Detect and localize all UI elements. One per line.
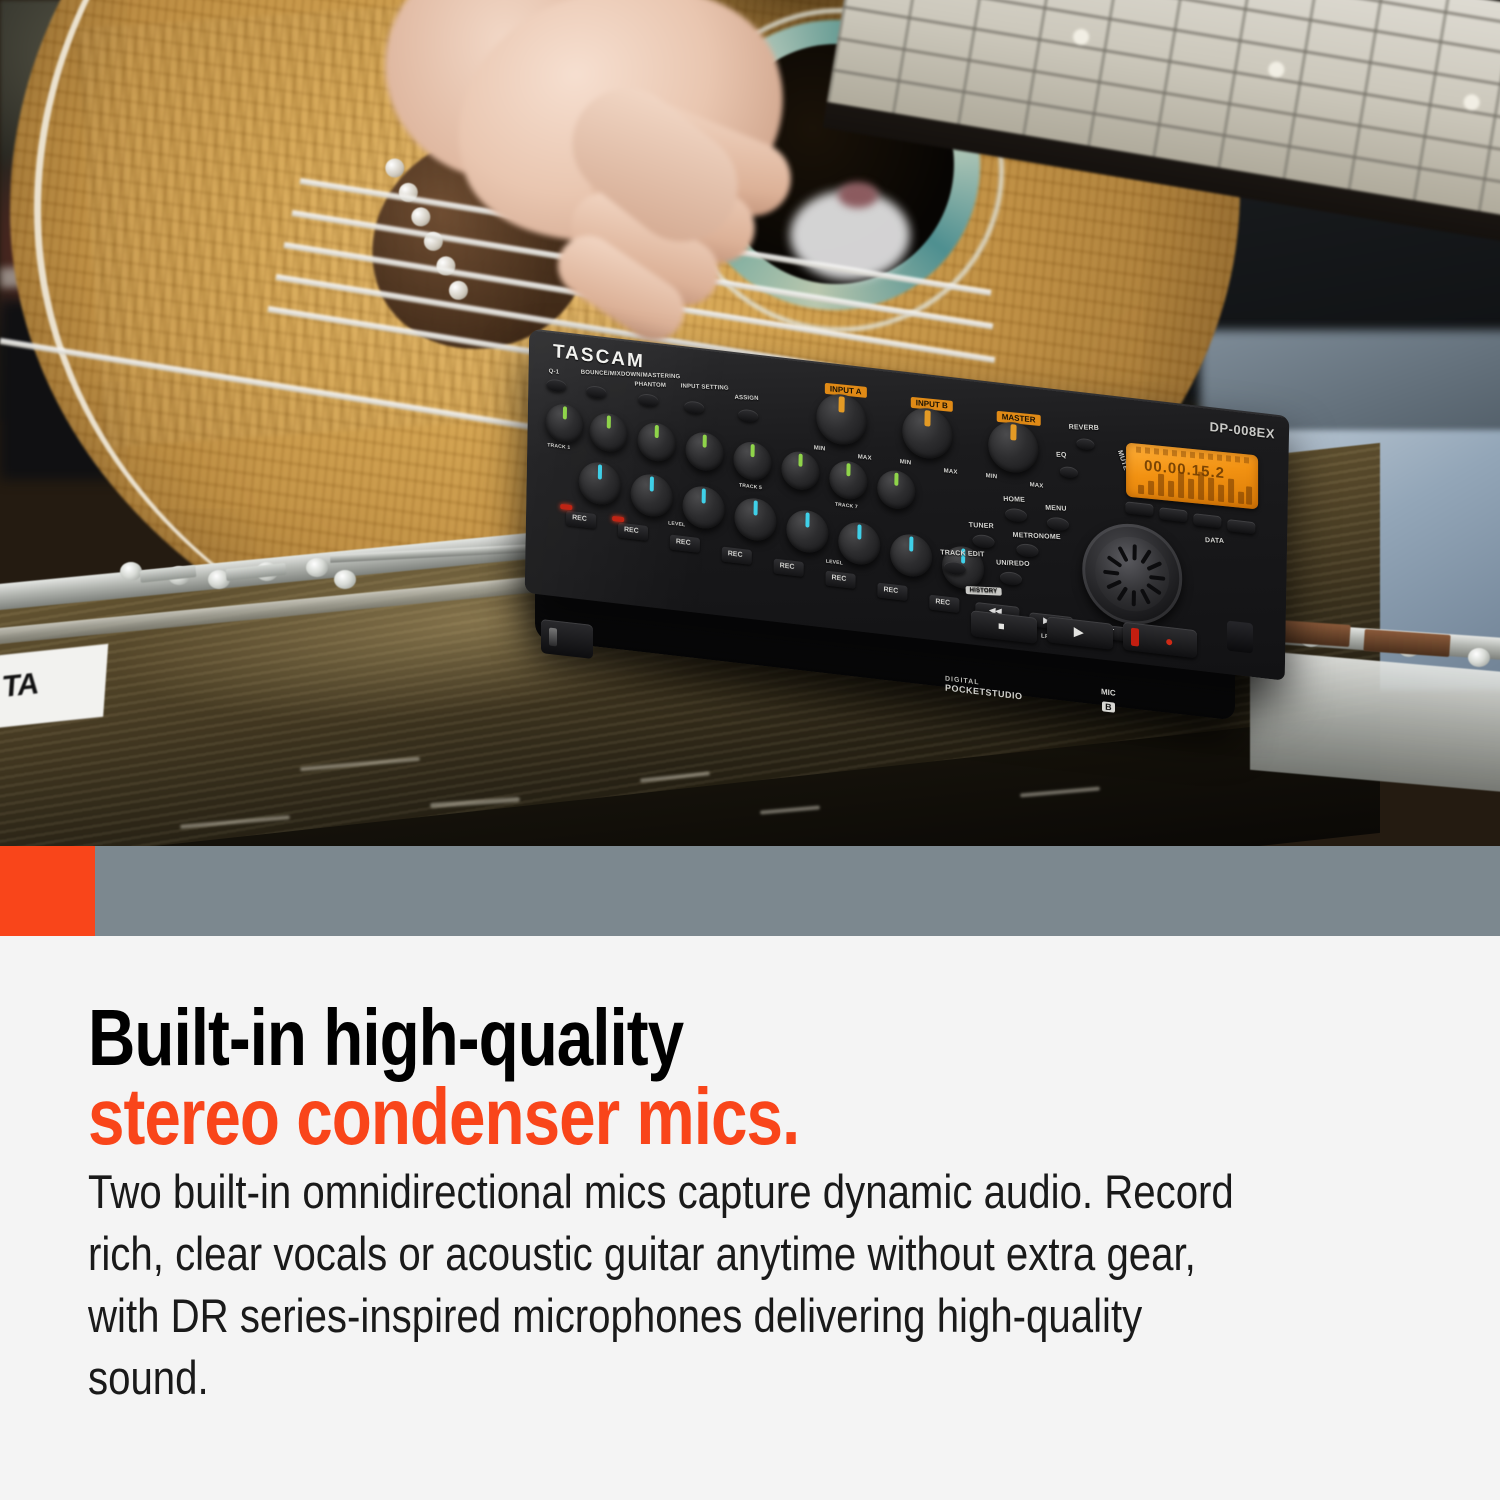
rec-button-6[interactable]: REC — [825, 571, 855, 589]
model-name: DP-008EX — [1209, 419, 1275, 442]
rec-label-6: REC — [832, 574, 847, 583]
rec-label-4: REC — [728, 550, 743, 559]
rec-indicator-1 — [560, 504, 572, 510]
level-label-text-2: LEVEL — [826, 559, 843, 567]
pan-knob-6[interactable] — [781, 450, 820, 492]
undo-redo-button[interactable] — [1000, 571, 1022, 587]
pan-knob-8[interactable] — [877, 469, 916, 511]
input-b-min: MIN — [900, 459, 912, 466]
undo-redo-label: UN/REDO — [996, 559, 1030, 568]
accent-band-row — [0, 846, 1500, 936]
rec-button-3[interactable]: REC — [670, 535, 700, 553]
metronome-button[interactable] — [1016, 543, 1038, 559]
data-wheel[interactable] — [1081, 518, 1183, 629]
function-button-4[interactable] — [1227, 519, 1255, 534]
input-a-max: MAX — [858, 454, 872, 462]
rec-indicator-2 — [612, 516, 624, 522]
home-button[interactable] — [1005, 507, 1027, 523]
record-bar-indicator — [1131, 628, 1139, 647]
master-knob[interactable] — [988, 419, 1039, 475]
gray-accent-band — [95, 846, 1500, 936]
level-knob-2[interactable] — [630, 472, 673, 519]
bounce-label: BOUNCE/MIXDOWN/MASTERING — [581, 370, 681, 381]
pan-knob-7[interactable] — [829, 459, 868, 501]
rec-label-7: REC — [883, 586, 898, 595]
headline-line-2: stereo condenser mics. — [88, 1077, 1179, 1156]
level-knob-4[interactable] — [734, 496, 777, 543]
stop-icon: ■ — [998, 620, 1005, 633]
phantom-button[interactable] — [638, 393, 658, 407]
bounce-button[interactable] — [586, 385, 606, 399]
reverb-button[interactable] — [1076, 438, 1094, 451]
rec-button-8[interactable]: REC — [929, 595, 959, 613]
level-knob-5[interactable] — [786, 508, 829, 555]
rec-label-2: REC — [624, 526, 639, 535]
level-knob-1[interactable] — [578, 460, 621, 507]
headline-line-1: Built-in high-quality — [88, 998, 1179, 1077]
phantom-label: PHANTOM — [634, 382, 666, 389]
tascam-recorder: TASCAM DP-008EX Q-1 BOUNCE/MIXDOWN/MASTE… — [527, 372, 1287, 752]
q1-button[interactable] — [546, 378, 566, 392]
case-sticker: TA — [0, 644, 108, 728]
mic-a-grille — [549, 628, 557, 647]
orange-accent-block — [0, 846, 95, 936]
sd-card-slot — [1227, 620, 1253, 653]
track-label-7: TRACK 7 — [835, 502, 858, 511]
content-section: Built-in high-quality stereo condenser m… — [0, 936, 1500, 1500]
product-photo: TA TASCAM DP-008EX Q-1 BOUNCE — [0, 0, 1500, 846]
lcd-display: 00.00.15.2 — [1126, 443, 1258, 510]
rec-button-5[interactable]: REC — [774, 559, 804, 577]
level-knob-3[interactable] — [682, 484, 725, 531]
input-a-knob[interactable] — [816, 392, 867, 448]
master-min: MIN — [986, 473, 998, 480]
assign-button[interactable] — [738, 408, 758, 422]
case-panel-right — [1250, 650, 1500, 794]
function-button-1[interactable] — [1125, 501, 1153, 516]
rec-label-8: REC — [935, 598, 950, 607]
mic-label: MIC — [1101, 687, 1116, 698]
tascam-logo: TASCAM — [553, 341, 645, 374]
eq-label: EQ — [1056, 452, 1067, 459]
rec-label-1: REC — [572, 514, 587, 523]
reverb-label: REVERB — [1068, 424, 1099, 432]
input-setting-label: INPUT SETTING — [681, 383, 730, 391]
page-headline: Built-in high-quality stereo condenser m… — [88, 998, 1179, 1156]
track-label-1: TRACK 1 — [547, 442, 570, 451]
rec-label-5: REC — [780, 562, 795, 571]
play-icon: ▶ — [1074, 624, 1083, 639]
data-wheel-label: DATA — [1205, 537, 1225, 545]
menu-button[interactable] — [1047, 516, 1069, 532]
track-label-5: TRACK 5 — [739, 483, 762, 492]
level-knob-7[interactable] — [890, 532, 933, 579]
record-icon: ● — [1165, 633, 1173, 650]
data-wheel-inner — [1095, 533, 1170, 615]
pan-knob-5[interactable] — [733, 440, 772, 482]
input-b-knob[interactable] — [902, 406, 953, 462]
q1-label: Q-1 — [549, 369, 560, 376]
input-a-min: MIN — [814, 445, 826, 452]
input-b-max: MAX — [944, 468, 958, 476]
eq-button[interactable] — [1060, 466, 1078, 479]
mic-b-marker: MIC B — [1101, 687, 1116, 716]
function-button-2[interactable] — [1159, 507, 1187, 522]
home-label: HOME — [1003, 496, 1025, 504]
rec-button-2[interactable]: REC — [618, 523, 648, 541]
function-button-3[interactable] — [1193, 513, 1221, 528]
pan-knob-4[interactable] — [685, 430, 724, 472]
menu-label: MENU — [1045, 505, 1067, 513]
mic-letter: B — [1102, 701, 1115, 712]
tuner-button[interactable] — [972, 534, 994, 550]
assign-label: ASSIGN — [734, 395, 759, 402]
body-paragraph: Two built-in omnidirectional mics captur… — [88, 1161, 1249, 1409]
pan-knob-3[interactable] — [637, 421, 676, 463]
product-feature-page: TA TASCAM DP-008EX Q-1 BOUNCE — [0, 0, 1500, 1500]
master-max: MAX — [1030, 482, 1044, 490]
level-knob-6[interactable] — [838, 520, 881, 567]
rec-button-1[interactable]: REC — [566, 511, 596, 529]
rec-button-4[interactable]: REC — [722, 547, 752, 565]
input-setting-button[interactable] — [684, 400, 704, 414]
tuner-label: TUNER — [969, 522, 994, 530]
history-label: HISTORY — [965, 586, 1001, 596]
metronome-label: METRONOME — [1013, 532, 1061, 541]
rec-button-7[interactable]: REC — [877, 583, 907, 601]
pan-knob-2[interactable] — [589, 411, 628, 453]
strumming-hand — [455, 0, 875, 350]
level-label-text: LEVEL — [668, 520, 685, 528]
rec-label-3: REC — [676, 538, 691, 547]
pan-knob-1[interactable] — [545, 402, 584, 444]
